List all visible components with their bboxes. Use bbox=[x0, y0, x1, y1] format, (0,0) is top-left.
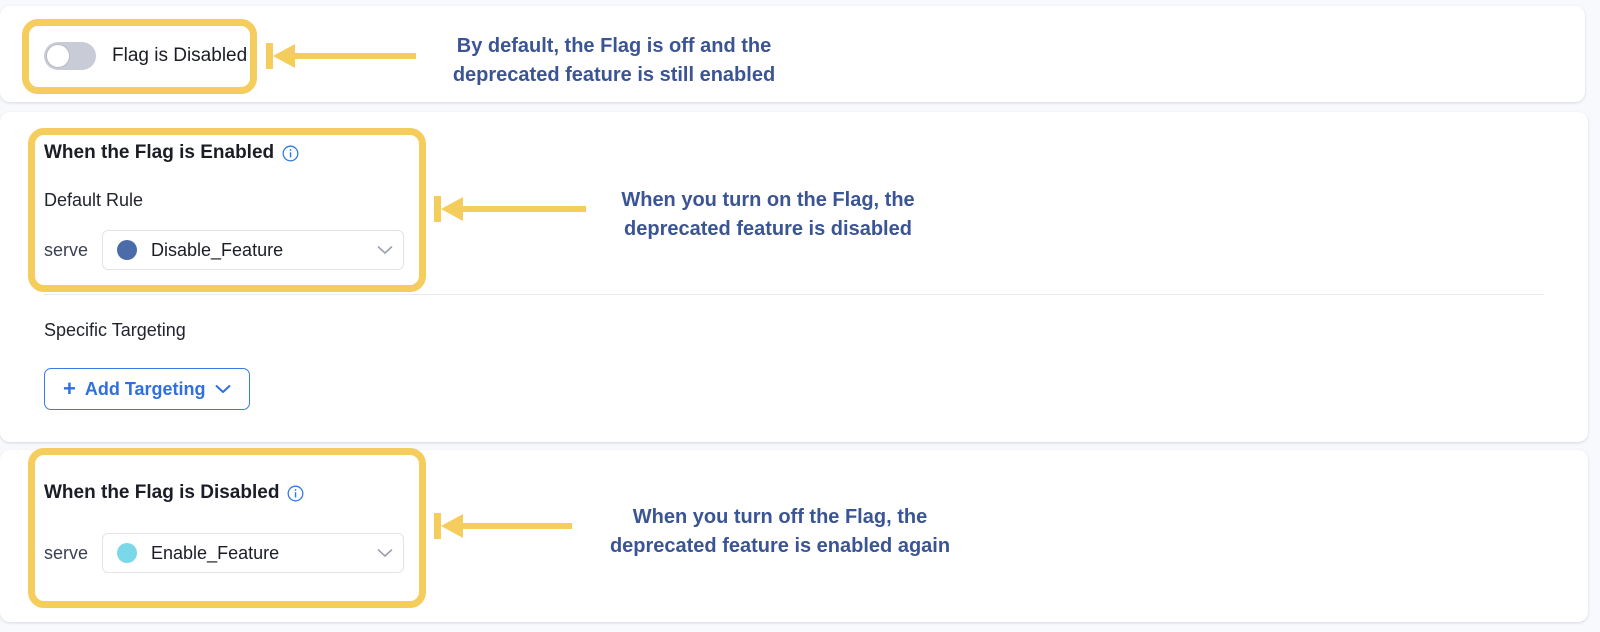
flag-enabled-card: When the Flag is Enabled Default Rule se… bbox=[0, 112, 1588, 442]
serve-label-disabled: serve bbox=[44, 543, 88, 564]
arrow-head bbox=[441, 197, 463, 221]
serve-variation-select-disabled[interactable]: Enable_Feature bbox=[102, 533, 404, 573]
variation-color-dot-disabled bbox=[117, 543, 137, 563]
disabled-serve-row: serve Enable_Feature bbox=[44, 533, 404, 573]
flag-toggle-label: Flag is Disabled bbox=[112, 45, 247, 67]
variation-color-dot-enabled bbox=[117, 240, 137, 260]
annotation-default-off: By default, the Flag is off and the depr… bbox=[414, 32, 814, 90]
when-flag-disabled-title: When the Flag is Disabled bbox=[44, 482, 304, 504]
serve-variation-value-disabled: Enable_Feature bbox=[151, 543, 377, 564]
when-flag-enabled-text: When the Flag is Enabled bbox=[44, 142, 274, 164]
arrow-head bbox=[441, 514, 463, 538]
annotation-flag-on: When you turn on the Flag, the deprecate… bbox=[586, 186, 950, 244]
arrow-shaft bbox=[462, 523, 572, 529]
serve-variation-value-enabled: Disable_Feature bbox=[151, 240, 377, 261]
arrow-shaft bbox=[294, 53, 416, 59]
chevron-down-icon[interactable] bbox=[377, 548, 393, 558]
when-flag-enabled-title: When the Flag is Enabled bbox=[44, 142, 299, 164]
arrow-tail bbox=[266, 43, 273, 69]
arrow-shaft bbox=[462, 206, 586, 212]
default-rule-serve-row: serve Disable_Feature bbox=[44, 230, 404, 270]
info-circle-icon[interactable] bbox=[287, 485, 304, 502]
serve-label-enabled: serve bbox=[44, 240, 88, 261]
arrow-tail bbox=[434, 196, 441, 222]
serve-variation-select-enabled[interactable]: Disable_Feature bbox=[102, 230, 404, 270]
default-rule-label: Default Rule bbox=[44, 190, 143, 211]
add-targeting-label: Add Targeting bbox=[85, 379, 206, 400]
add-targeting-button[interactable]: + Add Targeting bbox=[44, 368, 250, 410]
plus-icon: + bbox=[63, 378, 76, 400]
specific-targeting-label: Specific Targeting bbox=[44, 320, 186, 341]
chevron-down-icon[interactable] bbox=[215, 384, 231, 394]
feature-flag-settings-page: Flag is Disabled When the Flag is Enable… bbox=[0, 0, 1600, 632]
info-circle-icon[interactable] bbox=[282, 145, 299, 162]
annotation-flag-off: When you turn off the Flag, the deprecat… bbox=[570, 503, 990, 561]
toggle-knob bbox=[46, 44, 70, 68]
flag-toggle-row[interactable]: Flag is Disabled bbox=[44, 42, 247, 70]
flag-toggle-switch[interactable] bbox=[44, 42, 96, 70]
section-divider bbox=[44, 294, 1544, 295]
arrow-head bbox=[273, 44, 295, 68]
chevron-down-icon[interactable] bbox=[377, 245, 393, 255]
arrow-tail bbox=[434, 513, 441, 539]
when-flag-disabled-text: When the Flag is Disabled bbox=[44, 482, 279, 504]
